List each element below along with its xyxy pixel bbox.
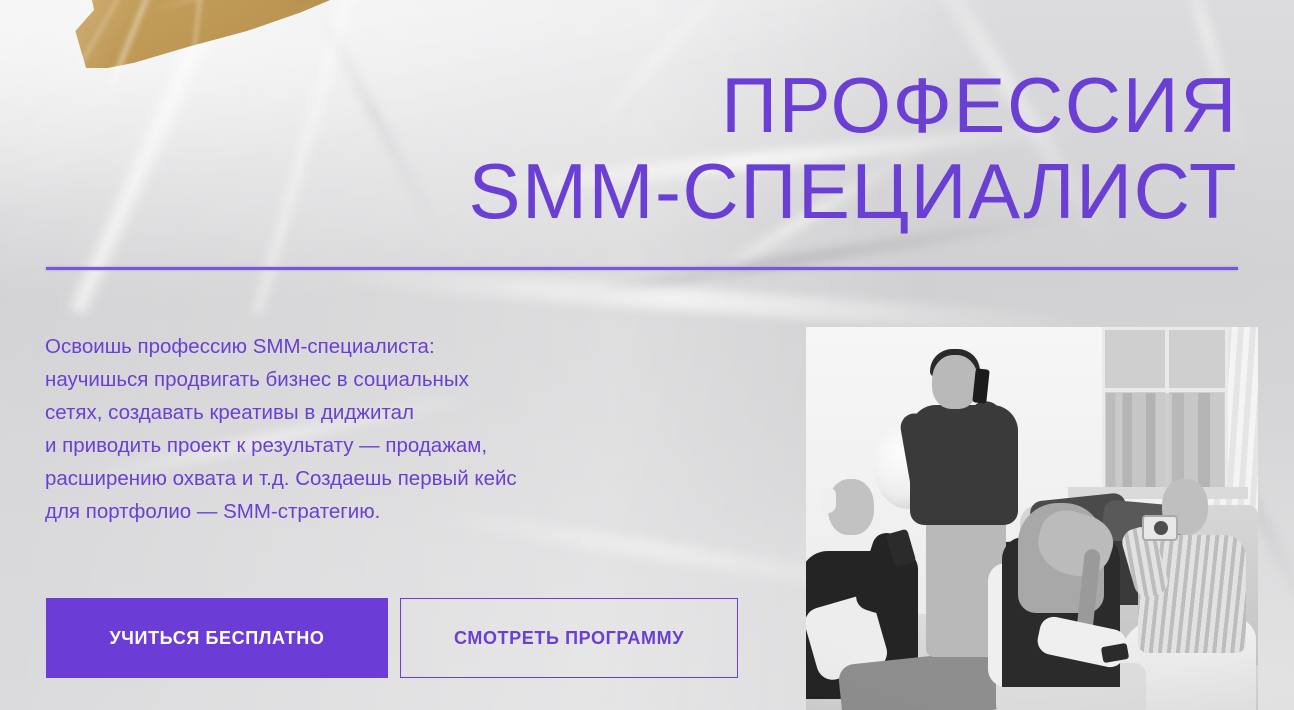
lead-line: расширению охвата и т.д. Создаешь первый…: [45, 462, 685, 495]
divider: [46, 267, 1238, 270]
hero-page: ПРОФЕССИЯ SMM-СПЕЦИАЛИСТ Освоишь професс…: [0, 0, 1294, 710]
view-program-button[interactable]: СМОТРЕТЬ ПРОГРАММУ: [400, 598, 738, 678]
lead-line: для портфолио — SMM-стратегию.: [45, 495, 685, 528]
page-title: ПРОФЕССИЯ SMM-СПЕЦИАЛИСТ: [46, 62, 1238, 234]
lead-line: научишься продвигать бизнес в социальных: [45, 363, 685, 396]
cta-button-group: УЧИТЬСЯ БЕСПЛАТНО СМОТРЕТЬ ПРОГРАММУ: [46, 598, 738, 678]
lead-line: и приводить проект к результату — продаж…: [45, 429, 685, 462]
enroll-free-button[interactable]: УЧИТЬСЯ БЕСПЛАТНО: [46, 598, 388, 678]
hero-photo: [806, 327, 1258, 710]
page-title-line-2: SMM-СПЕЦИАЛИСТ: [46, 148, 1238, 234]
lead-line: сетях, создавать креативы в диджитал: [45, 396, 685, 429]
lead-paragraph: Освоишь профессию SMM-специалиста: научи…: [45, 330, 685, 528]
page-title-line-1: ПРОФЕССИЯ: [46, 62, 1238, 148]
photo-vignette: [806, 327, 1258, 710]
lead-line: Освоишь профессию SMM-специалиста:: [45, 330, 685, 363]
